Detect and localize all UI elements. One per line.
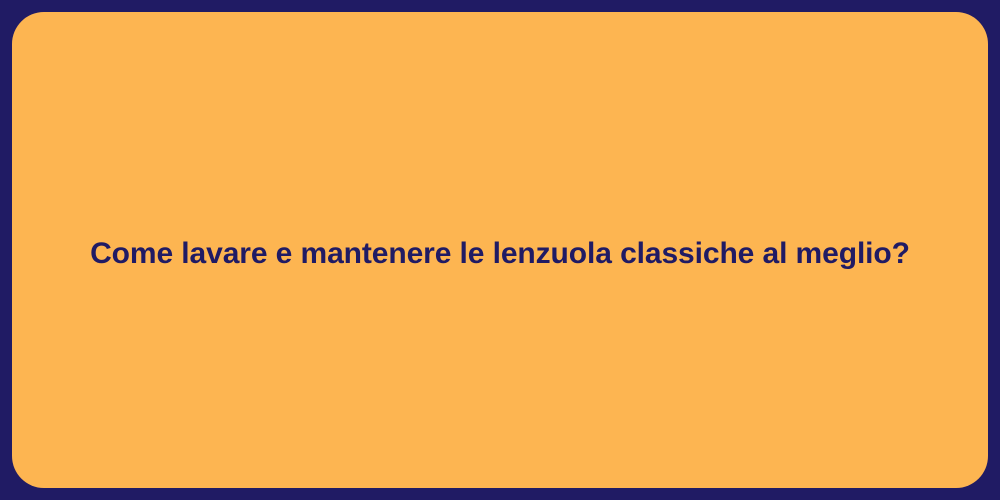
card-frame: Come lavare e mantenere le lenzuola clas… (0, 0, 1000, 500)
page-title: Come lavare e mantenere le lenzuola clas… (36, 235, 964, 273)
headline-block: Come lavare e mantenere le lenzuola clas… (12, 235, 988, 273)
card-panel: Come lavare e mantenere le lenzuola clas… (12, 12, 988, 488)
